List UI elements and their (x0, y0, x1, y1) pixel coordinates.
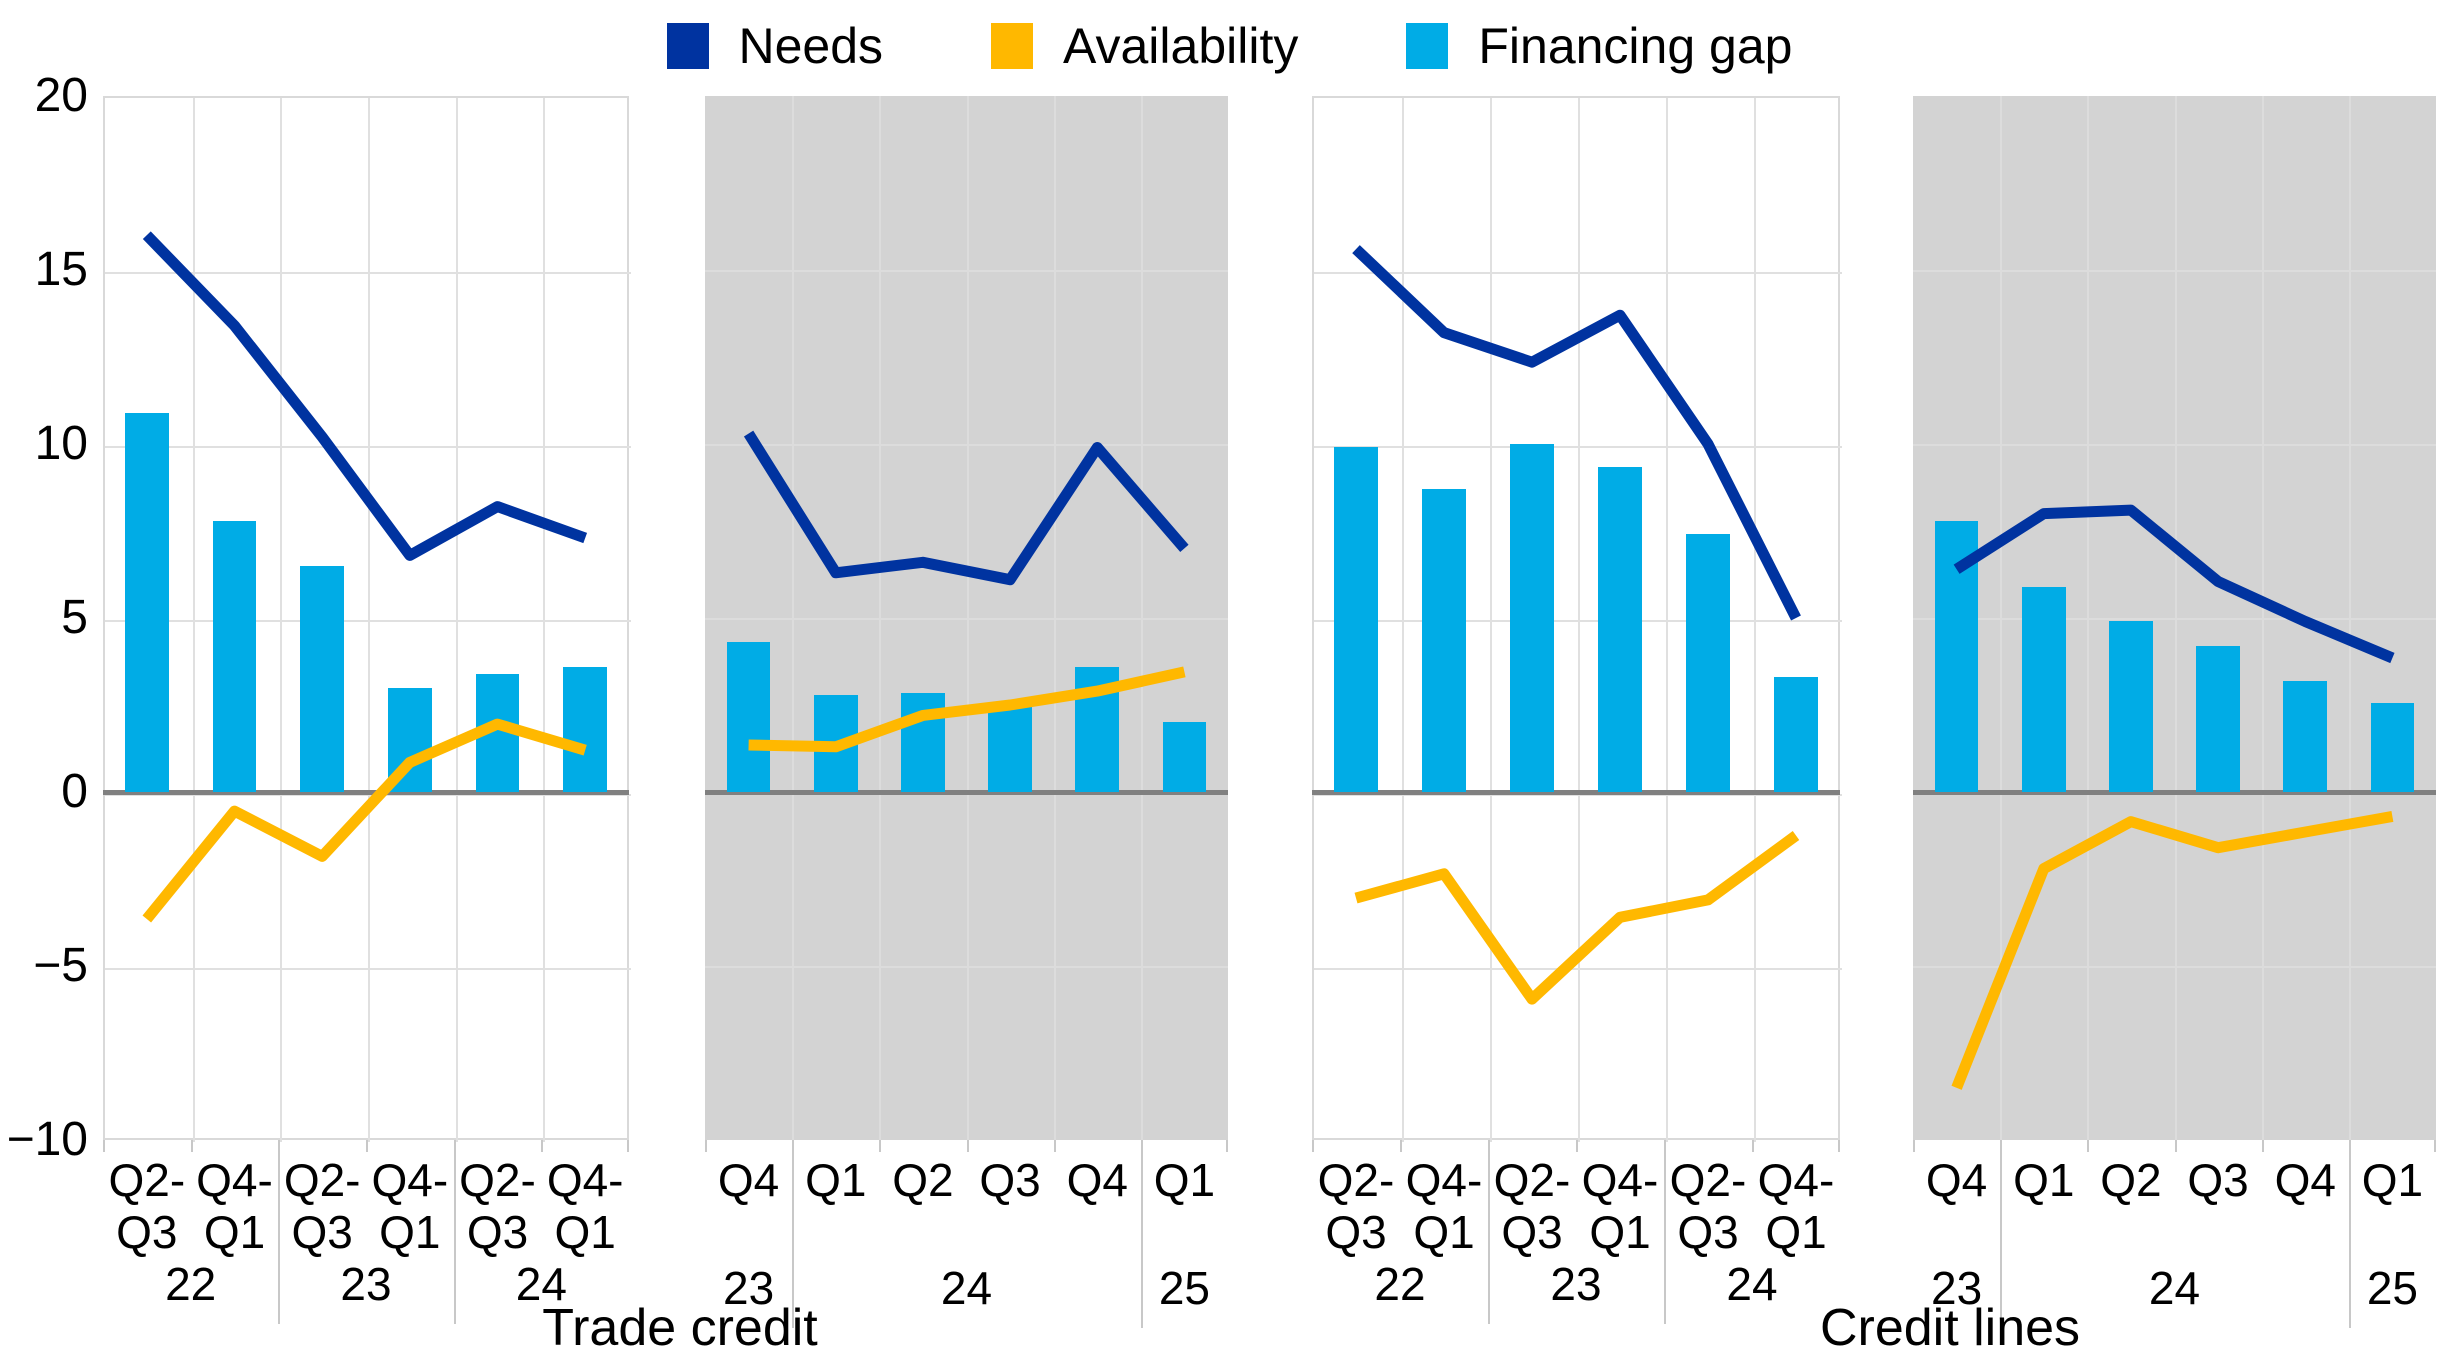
x-axis-tick-mark (967, 1140, 969, 1152)
x-axis-tick-mark (1752, 1140, 1754, 1152)
x-axis-tick-label: Q1 (2013, 1154, 2074, 1206)
x-axis-tick-label: Q4 (2275, 1154, 2336, 1206)
x-axis-tick-mark (1576, 1140, 1578, 1152)
x-axis-tick-mark (705, 1140, 707, 1152)
x-axis-tick-mark (879, 1140, 881, 1152)
x-axis-tick-label: Q2- Q3 (1670, 1154, 1747, 1258)
y-axis-tick-label: −10 (7, 1116, 88, 1164)
y-axis-tick-label: 0 (61, 768, 88, 816)
x-axis-tick-label: Q2 (892, 1154, 953, 1206)
x-axis-year-separator (1664, 1150, 1666, 1324)
x-axis-tick-label: Q1 (1154, 1154, 1215, 1206)
panel-group-title: Trade credit (542, 1300, 818, 1356)
x-axis-tick-mark (627, 1140, 629, 1152)
x-axis-tick-label: Q4- Q1 (196, 1154, 273, 1258)
x-axis-tick-mark (2434, 1140, 2436, 1152)
x-axis-tick-label: Q1 (805, 1154, 866, 1206)
x-axis-tick-label: Q2- Q3 (108, 1154, 185, 1258)
x-axis-tick-label: Q4- Q1 (1582, 1154, 1659, 1258)
x-axis-year-separator (1141, 1150, 1143, 1328)
y-axis-tick-label: 10 (35, 420, 88, 468)
chart-panel-2: Q4Q1Q2Q3Q4Q1232425 (705, 0, 1228, 1372)
x-axis-tick-label: Q2- Q3 (1318, 1154, 1395, 1258)
x-axis-year-group-label: 23 (1550, 1260, 1601, 1308)
x-axis-tick-label: Q2- Q3 (459, 1154, 536, 1258)
y-axis-tick-label: 15 (35, 246, 88, 294)
x-axis-tick-label: Q2- Q3 (284, 1154, 361, 1258)
x-axis-tick-mark (103, 1140, 105, 1152)
x-axis-tick-mark (2087, 1140, 2089, 1152)
x-axis-tick-mark (1312, 1140, 1314, 1152)
x-axis-tick-mark (1913, 1140, 1915, 1152)
x-axis-tick-mark (1400, 1140, 1402, 1152)
x-axis-tick-label: Q3 (2187, 1154, 2248, 1206)
x-axis-tick-mark (1054, 1140, 1056, 1152)
chart-panel-1: Q2- Q3Q4- Q1Q2- Q3Q4- Q1Q2- Q3Q4- Q12223… (103, 0, 629, 1372)
x-axis-tick-label: Q4- Q1 (1758, 1154, 1835, 1258)
x-axis-tick-label: Q3 (979, 1154, 1040, 1206)
chart-panel-3: Q2- Q3Q4- Q1Q2- Q3Q4- Q1Q2- Q3Q4- Q12223… (1312, 0, 1840, 1372)
y-axis-tick-label: −5 (33, 942, 88, 990)
x-axis-year-separator (1488, 1150, 1490, 1324)
x-axis-labels: Q2- Q3Q4- Q1Q2- Q3Q4- Q1Q2- Q3Q4- Q12223… (1312, 1140, 1840, 1372)
x-axis-year-separator (454, 1150, 456, 1324)
x-axis-year-group-label: 24 (2149, 1264, 2200, 1312)
x-axis-year-group-label: 24 (1726, 1260, 1777, 1308)
x-axis-year-group-label: 23 (340, 1260, 391, 1308)
x-axis-year-group-label: 24 (941, 1264, 992, 1312)
x-axis-tick-label: Q4- Q1 (547, 1154, 624, 1258)
y-axis-tick-label: 20 (35, 72, 88, 120)
x-axis-tick-mark (541, 1140, 543, 1152)
panel-group-title: Credit lines (1820, 1300, 2080, 1356)
x-axis-tick-mark (1226, 1140, 1228, 1152)
x-axis-tick-mark (2262, 1140, 2264, 1152)
line-needs (1957, 510, 2393, 658)
chart-panel-4: Q4Q1Q2Q3Q4Q1232425 (1913, 0, 2436, 1372)
x-axis-tick-mark (366, 1140, 368, 1152)
y-axis: 20151050−5−10 (0, 0, 100, 1372)
chart-root: NeedsAvailabilityFinancing gap 20151050−… (0, 0, 2459, 1372)
x-axis-tick-label: Q4- Q1 (371, 1154, 448, 1258)
line-needs (1356, 249, 1796, 618)
x-axis-tick-mark (1838, 1140, 1840, 1152)
x-axis-tick-label: Q4 (718, 1154, 779, 1206)
x-axis-tick-label: Q2 (2100, 1154, 2161, 1206)
x-axis-tick-mark (2175, 1140, 2177, 1152)
line-needs (147, 235, 585, 555)
x-axis-year-group-label: 25 (1159, 1264, 1210, 1312)
line-availability (147, 724, 585, 919)
legend-swatch-icon (667, 23, 709, 69)
x-axis-year-group-label: 25 (2367, 1264, 2418, 1312)
line-needs (749, 434, 1185, 580)
x-axis-year-separator (2349, 1150, 2351, 1328)
x-axis-tick-label: Q4 (1926, 1154, 1987, 1206)
x-axis-year-group-label: 22 (1374, 1260, 1425, 1308)
x-axis-tick-label: Q4 (1067, 1154, 1128, 1206)
line-availability (1356, 836, 1796, 1000)
x-axis-tick-mark (191, 1140, 193, 1152)
x-axis-year-group-label: 22 (165, 1260, 216, 1308)
x-axis-tick-label: Q2- Q3 (1494, 1154, 1571, 1258)
x-axis-tick-label: Q4- Q1 (1406, 1154, 1483, 1258)
line-availability (1957, 816, 2393, 1087)
x-axis-year-separator (278, 1150, 280, 1324)
line-availability (749, 672, 1185, 747)
x-axis-tick-label: Q1 (2362, 1154, 2423, 1206)
y-axis-tick-label: 5 (61, 594, 88, 642)
